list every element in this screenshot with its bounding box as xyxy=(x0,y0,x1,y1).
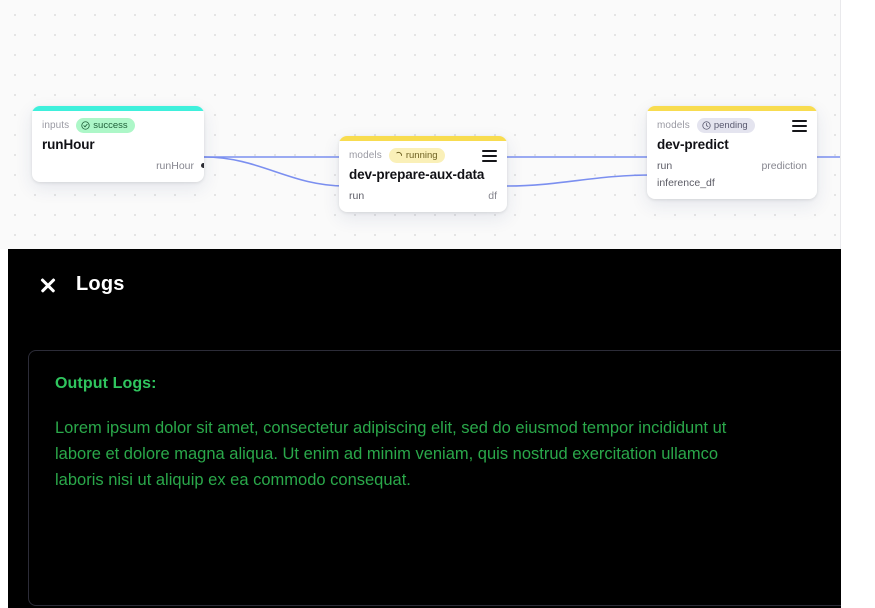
status-badge-label: pending xyxy=(714,120,748,132)
port-row-run: run df xyxy=(349,187,497,204)
flow-node-dev-prepare-aux-data[interactable]: models running dev-prepare-aux-data xyxy=(339,136,507,212)
node-title: runHour xyxy=(42,137,194,152)
node-title: dev-predict xyxy=(657,137,807,152)
logs-output-box[interactable]: Output Logs: Lorem ipsum dolor sit amet,… xyxy=(28,350,841,606)
hamburger-menu-icon[interactable] xyxy=(792,120,807,132)
flow-node-dev-predict[interactable]: models pending dev-predict xyxy=(647,106,817,199)
input-port-label-inference-df[interactable]: inference_df xyxy=(657,177,715,189)
status-badge-pending: pending xyxy=(697,118,755,133)
node-group-label: models xyxy=(657,120,690,131)
input-port-label-run[interactable]: run xyxy=(657,160,672,172)
output-port-label-df[interactable]: df xyxy=(488,190,497,202)
edge-df-to-inference xyxy=(507,175,650,186)
status-badge-label: running xyxy=(406,150,438,162)
node-group-label: inputs xyxy=(42,120,69,131)
output-port-label[interactable]: runHour xyxy=(156,160,194,172)
input-port-label-run[interactable]: run xyxy=(349,190,364,202)
node-ports: runHour xyxy=(42,157,194,174)
logs-modal-header: Logs xyxy=(8,249,841,296)
port-row-inference-df: inference_df xyxy=(657,174,807,191)
edge-runhour-to-prepare xyxy=(204,157,345,186)
status-badge-running: running xyxy=(389,148,445,163)
node-ports: run df xyxy=(349,187,497,204)
clock-icon xyxy=(702,121,711,130)
close-icon[interactable] xyxy=(38,275,58,295)
spinner-icon xyxy=(394,151,403,160)
port-row-run: run prediction xyxy=(657,157,807,174)
logs-output-text: Lorem ipsum dolor sit amet, consectetur … xyxy=(55,415,755,493)
status-badge-label: success xyxy=(93,120,127,132)
flow-node-runhour[interactable]: inputs success runHour runHour xyxy=(32,106,204,182)
hamburger-menu-icon[interactable] xyxy=(482,150,497,162)
node-title: dev-prepare-aux-data xyxy=(349,167,497,182)
logs-output-heading: Output Logs: xyxy=(55,375,831,393)
node-ports: run prediction inference_df xyxy=(657,157,807,191)
flow-canvas[interactable]: inputs success runHour runHour xyxy=(0,0,841,249)
check-circle-icon xyxy=(81,121,90,130)
node-group-label: models xyxy=(349,150,382,161)
logs-modal-title: Logs xyxy=(76,273,125,296)
logs-modal: Logs Output Logs: Lorem ipsum dolor sit … xyxy=(8,249,841,608)
output-port-label-prediction[interactable]: prediction xyxy=(761,160,807,172)
port-row-output: runHour xyxy=(42,157,194,174)
status-badge-success: success xyxy=(76,118,134,133)
output-port-handle[interactable] xyxy=(201,163,204,168)
